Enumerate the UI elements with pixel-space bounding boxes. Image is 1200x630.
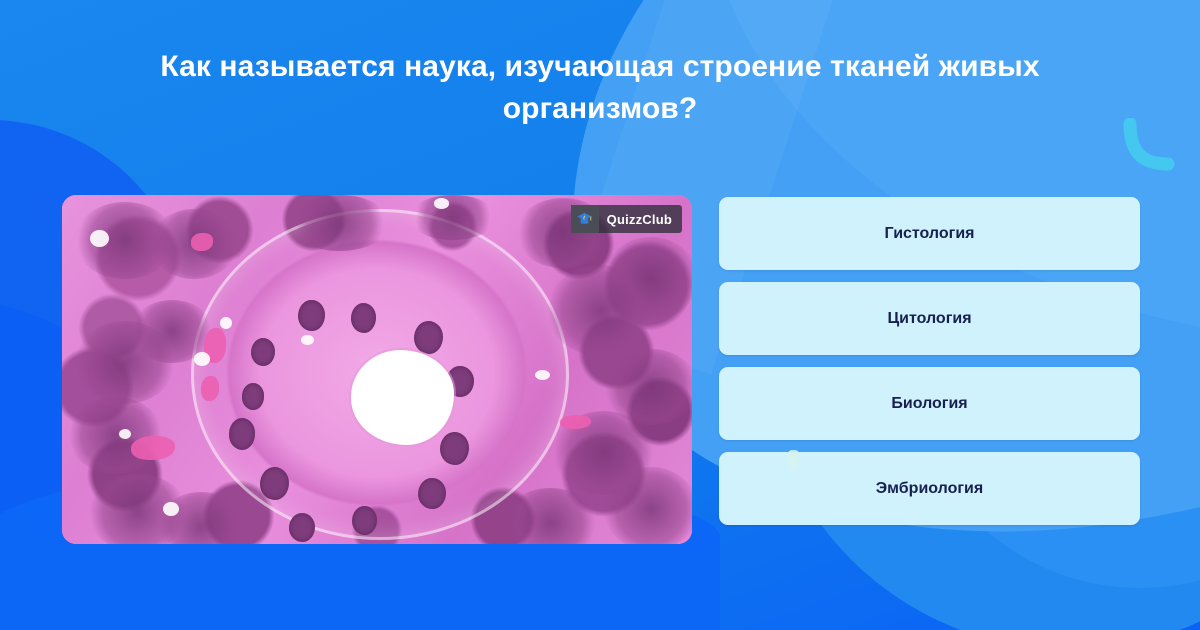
cell-cluster (547, 265, 654, 356)
central-lumen (351, 350, 455, 444)
answer-option-2-label: Цитология (887, 310, 971, 328)
interstitial-space (194, 352, 210, 366)
watermark-brand-label: QuizzClub (607, 212, 672, 227)
cell-cluster (289, 195, 390, 251)
cell-cluster (409, 195, 497, 240)
answer-option-4-label: Эмбриология (876, 480, 983, 498)
answer-options-list: Гистология Цитология Биология Эмбриологи… (719, 197, 1140, 525)
cell-cluster (503, 488, 598, 544)
question-image-panel: QuizzClub (62, 195, 692, 544)
nucleus (352, 506, 377, 536)
quiz-question-card: Как называется наука, изучающая строение… (0, 0, 1200, 630)
answer-option-1-label: Гистология (885, 225, 975, 243)
nucleus (351, 303, 376, 333)
watermark-badge: QuizzClub (571, 205, 682, 233)
nucleus (418, 478, 446, 509)
nucleus (414, 321, 443, 354)
nucleus (289, 513, 315, 543)
blood-vessel (131, 436, 175, 460)
nucleus (251, 338, 275, 366)
graduation-cap-icon (571, 205, 599, 233)
question-title: Как называется наука, изучающая строение… (60, 46, 1140, 130)
nucleus (298, 300, 324, 331)
answer-option-2[interactable]: Цитология (719, 282, 1140, 355)
nucleus (229, 418, 255, 449)
answer-option-3[interactable]: Биология (719, 367, 1140, 440)
cell-cluster (604, 467, 692, 544)
interstitial-space (535, 370, 551, 380)
answer-option-1[interactable]: Гистология (719, 197, 1140, 270)
blood-vessel (560, 415, 592, 429)
blood-vessel (191, 233, 213, 250)
answer-option-3-label: Биология (891, 395, 967, 413)
nucleus (242, 383, 265, 409)
interstitial-space (163, 502, 179, 516)
interstitial-space (301, 335, 314, 345)
histology-micrograph-image: QuizzClub (62, 195, 692, 544)
answer-option-4[interactable]: Эмбриология (719, 452, 1140, 525)
